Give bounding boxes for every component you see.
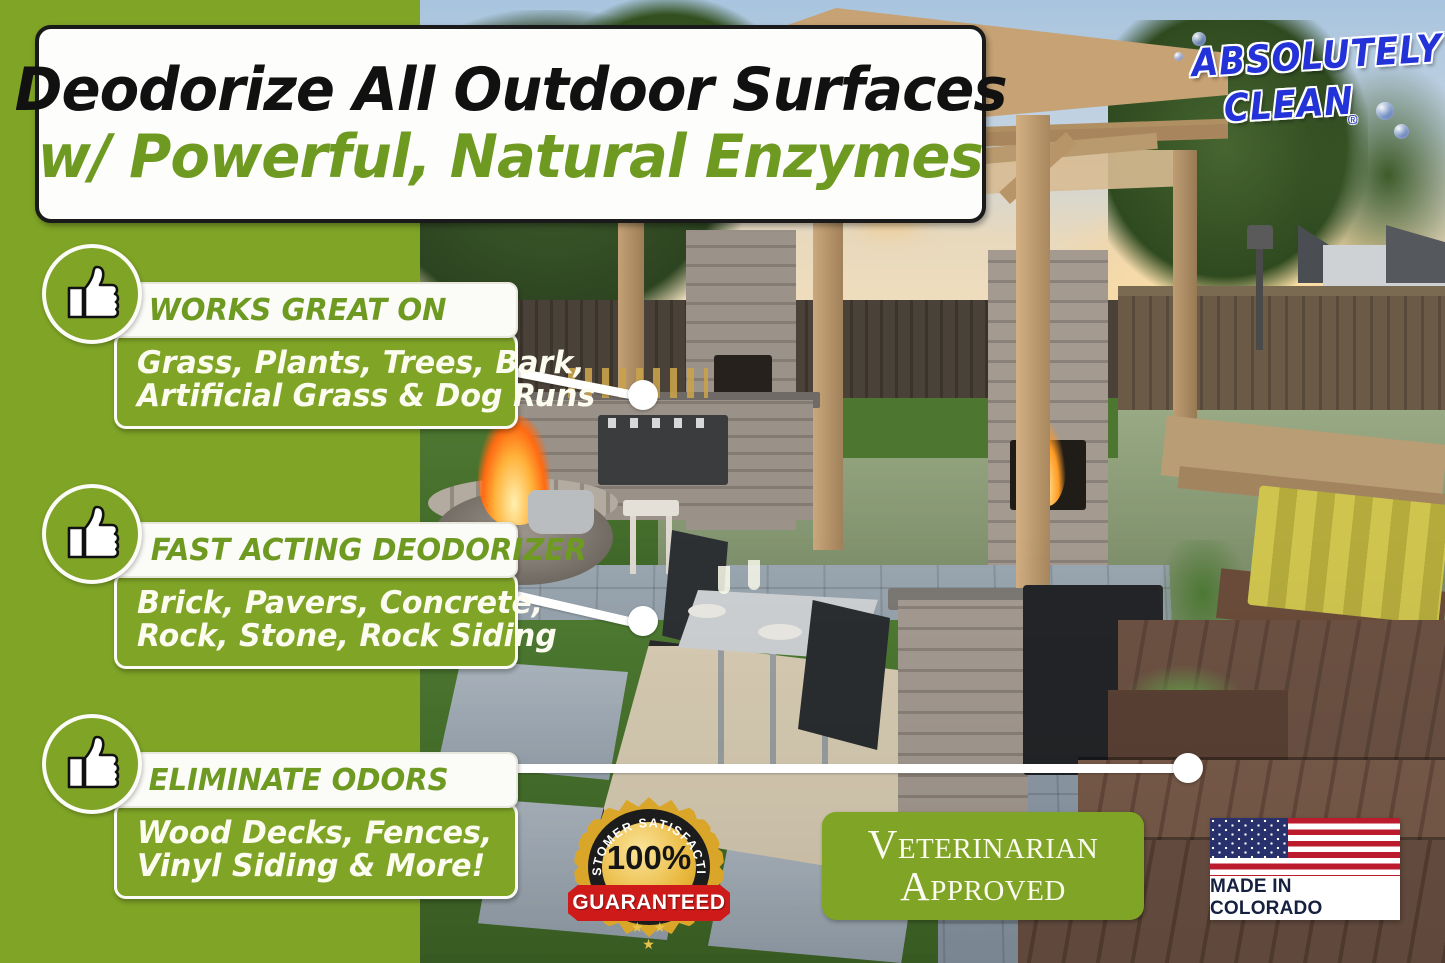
veterinarian-approved-badge: Veterinarian Approved [822,812,1144,920]
feature-callout-works-great-on: WORKS GREAT ON Grass, Plants, Trees, Bar… [98,282,518,429]
leader-line-3 [500,764,1190,773]
feature-callout-fast-acting-deodorizer: FAST ACTING DEODORIZER Brick, Pavers, Co… [98,522,518,669]
vet-line-2: Approved [900,866,1066,908]
feature-title: FAST ACTING DEODORIZER [151,533,587,568]
thumbs-up-icon [42,244,142,344]
feature-callout-eliminate-odors: ELIMINATE ODORS Wood Decks, Fences, Viny… [98,752,518,899]
feature-body-line-2: Artificial Grass & Dog Runs [137,380,494,413]
feature-title: ELIMINATE ODORS [149,763,449,798]
guarantee-seal-badge: CUSTOMER SATISFACTION 100% ★ ★ ★ GUARANT… [570,795,728,940]
feature-body: Brick, Pavers, Concrete, Rock, Stone, Ro… [114,572,518,669]
headline-line-2: w/ Powerful, Natural Enzymes [38,127,983,188]
made-in-colorado-badge: MADE IN COLORADO [1210,818,1400,920]
brand-logo: ABSOLUTELY CLEAN ® [1180,38,1410,153]
leader-dot-1 [628,380,658,410]
feature-body: Grass, Plants, Trees, Bark, Artificial G… [114,332,518,429]
seal-ribbon-label: GUARANTEED [572,891,725,915]
feature-body-line-2: Vinyl Siding & More! [137,850,494,883]
vet-line-1: Veterinarian [868,824,1099,866]
seal-ribbon: GUARANTEED [568,885,730,921]
bubble-icon [1376,102,1394,120]
seal-stars: ★ ★ ★ [622,919,678,953]
feature-body-line-1: Grass, Plants, Trees, Bark, [137,347,494,380]
thumbs-up-icon [42,714,142,814]
us-flag-icon [1210,818,1400,876]
feature-title-bar: FAST ACTING DEODORIZER [98,522,518,578]
bubble-icon [1394,124,1409,139]
registered-trademark-icon: ® [1348,112,1358,127]
feature-title-bar: WORKS GREAT ON [98,282,518,338]
leader-dot-2 [628,606,658,636]
brand-line-2: CLEAN [1223,79,1401,128]
seal-percent: 100% [602,839,696,877]
feature-body: Wood Decks, Fences, Vinyl Siding & More! [114,802,518,899]
made-in-colorado-label: MADE IN COLORADO [1210,876,1400,920]
feature-title-bar: ELIMINATE ODORS [98,752,518,808]
feature-title: WORKS GREAT ON [149,293,447,328]
bubble-icon [1174,52,1183,61]
thumbs-up-icon [42,484,142,584]
headline-line-1: Deodorize All Outdoor Surfaces [14,60,1006,121]
leader-dot-3 [1173,753,1203,783]
feature-body-line-1: Wood Decks, Fences, [137,817,494,850]
product-marketing-poster: Deodorize All Outdoor Surfaces w/ Powerf… [0,0,1445,963]
brand-line-1: ABSOLUTELY [1191,32,1400,83]
flag-canton [1210,818,1288,858]
feature-body-line-1: Brick, Pavers, Concrete, [137,587,494,620]
feature-body-line-2: Rock, Stone, Rock Siding [137,620,494,653]
headline-box: Deodorize All Outdoor Surfaces w/ Powerf… [35,25,986,223]
